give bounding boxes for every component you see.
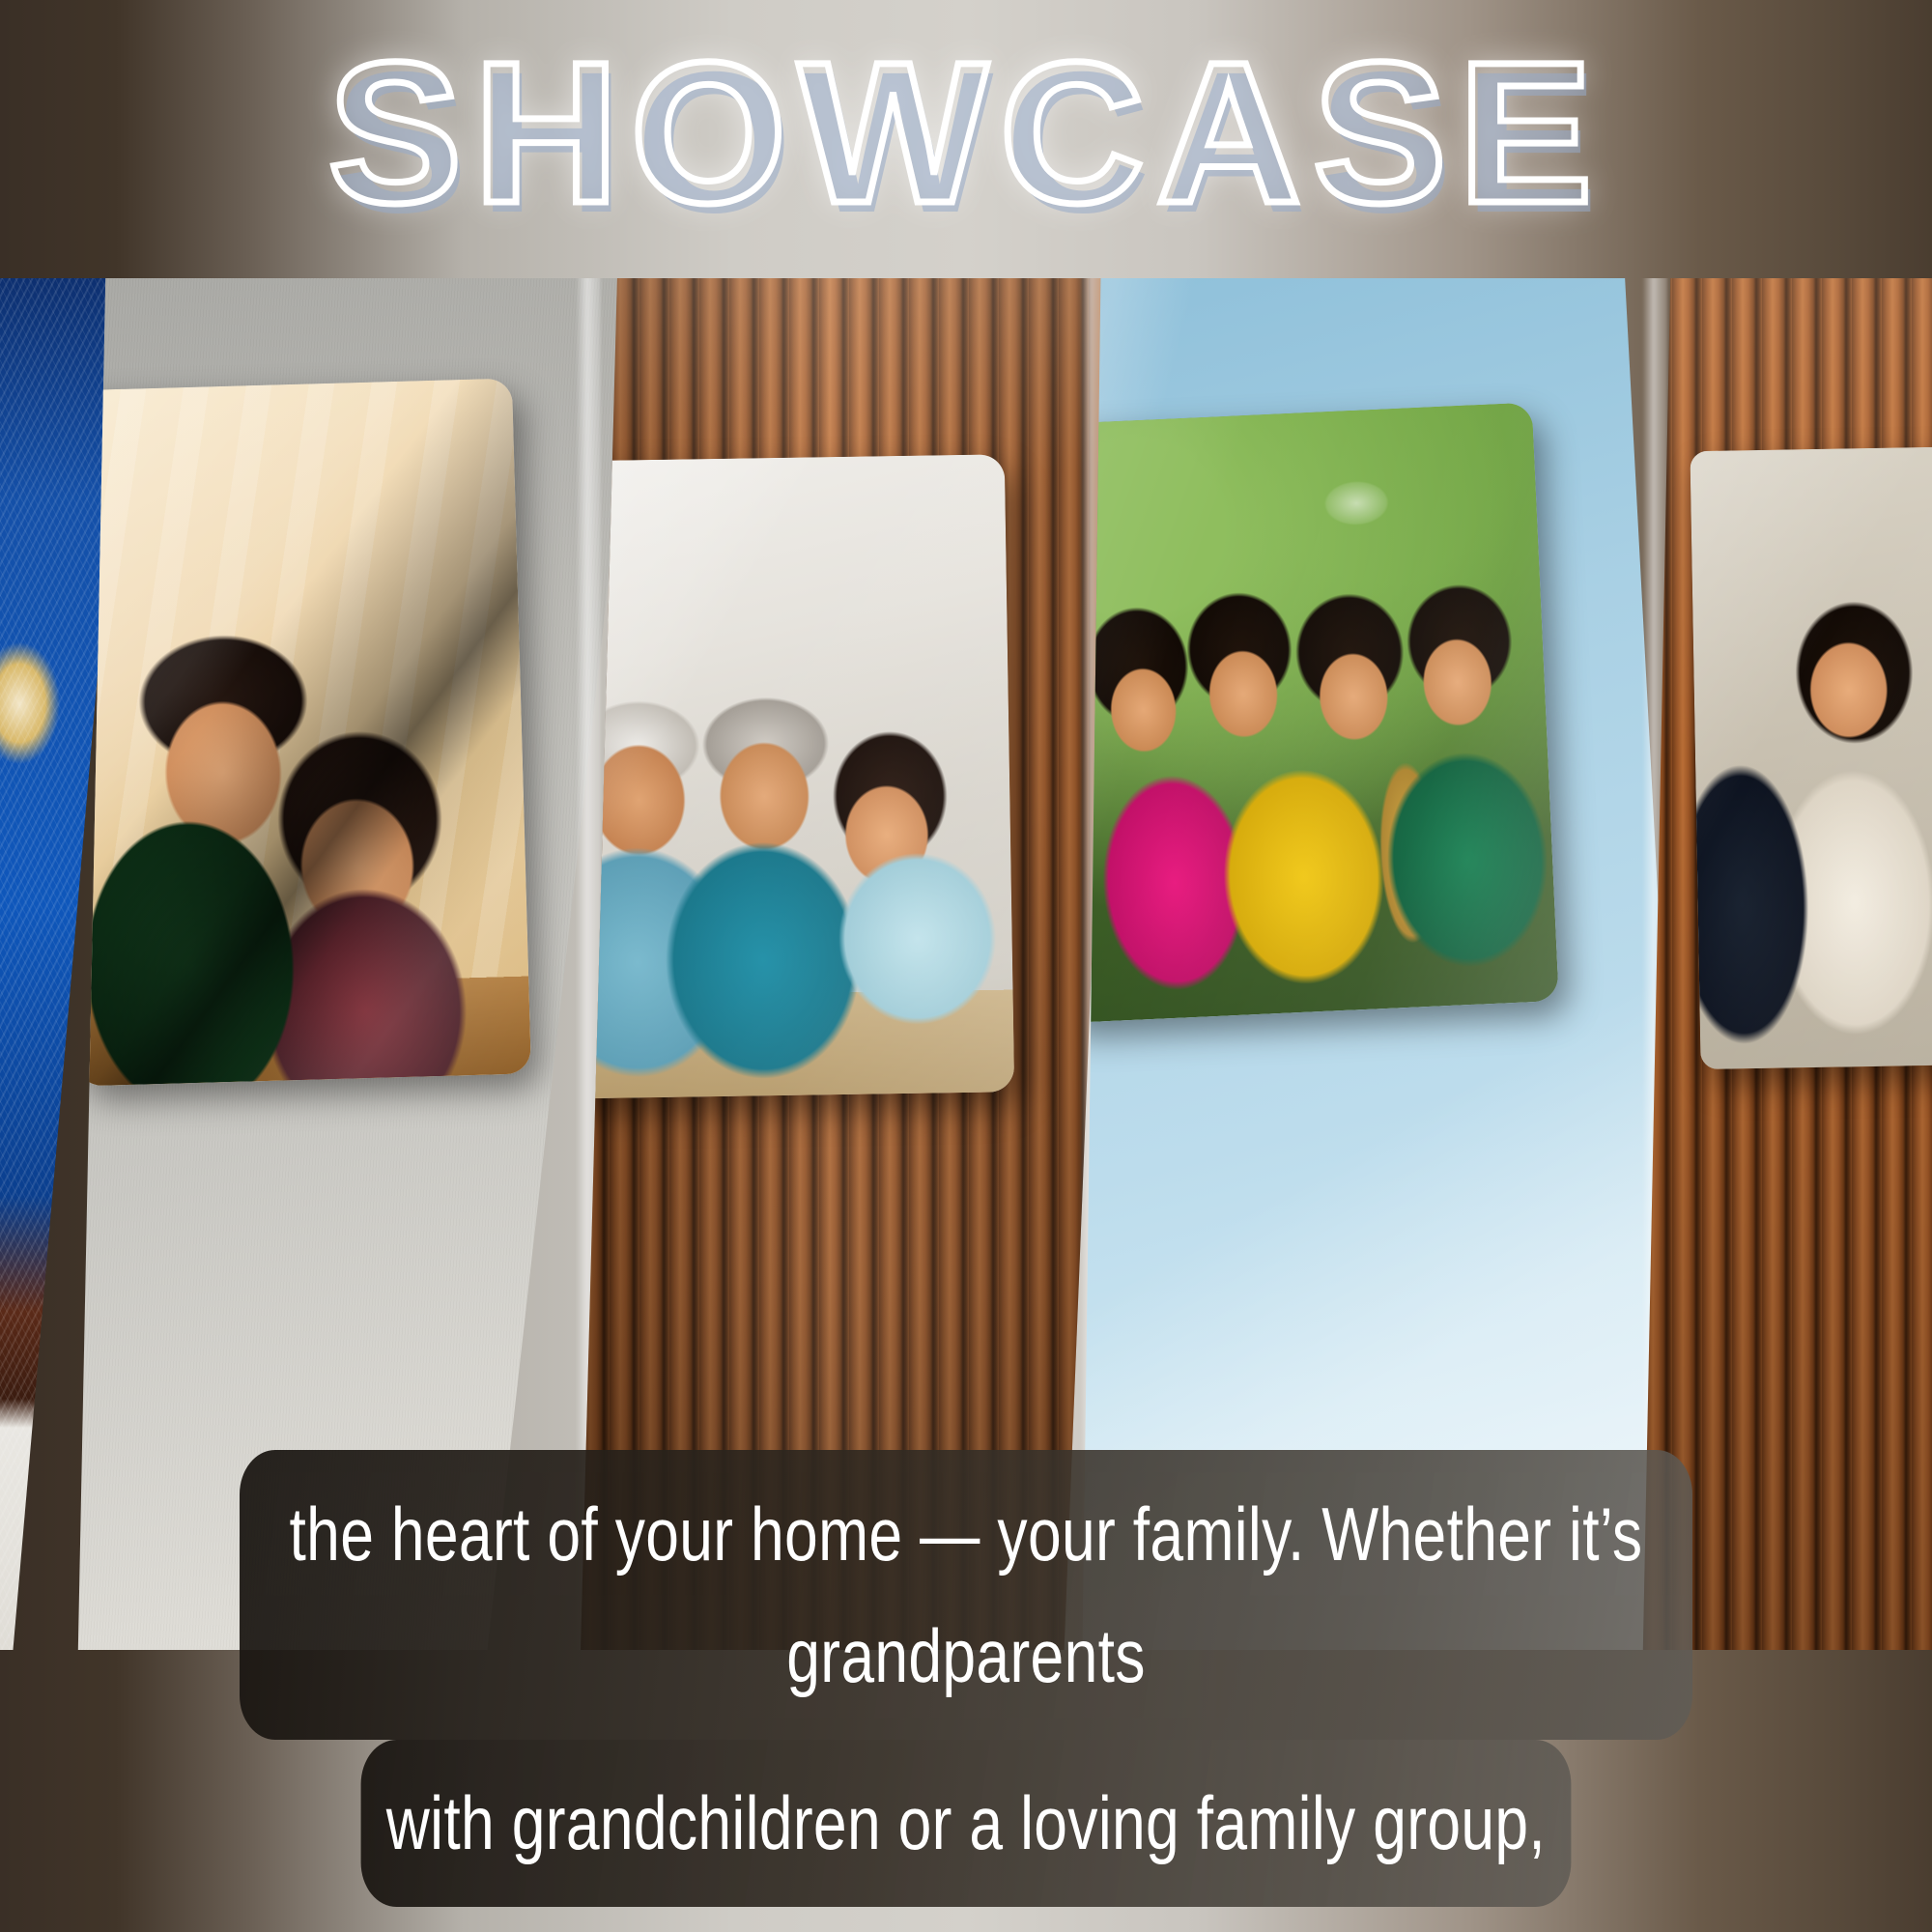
photo-four-women-sarees — [1082, 403, 1559, 1024]
acrylic-print-four-women — [1082, 403, 1559, 1024]
caption-block: the heart of your home — your family. Wh… — [0, 1450, 1932, 1907]
photo-two-children — [77, 379, 531, 1087]
acrylic-print-kids — [77, 379, 531, 1087]
acrylic-print-grandparents — [580, 454, 1014, 1098]
collage-band — [0, 278, 1932, 1650]
photo-grandparents-granddaughter — [580, 454, 1014, 1098]
caption-line-2: with grandchildren or a loving family gr… — [361, 1740, 1572, 1907]
showcase-poster: SHOWCASE the heart of your home — your f… — [0, 0, 1932, 1932]
photo-wedding-couple — [1690, 445, 1932, 1069]
page-title: SHOWCASE — [0, 33, 1932, 234]
acrylic-print-wedding-couple — [1690, 445, 1932, 1069]
caption-line-1: the heart of your home — your family. Wh… — [240, 1450, 1692, 1740]
panel-wood-slat-couple-print — [1642, 278, 1932, 1650]
